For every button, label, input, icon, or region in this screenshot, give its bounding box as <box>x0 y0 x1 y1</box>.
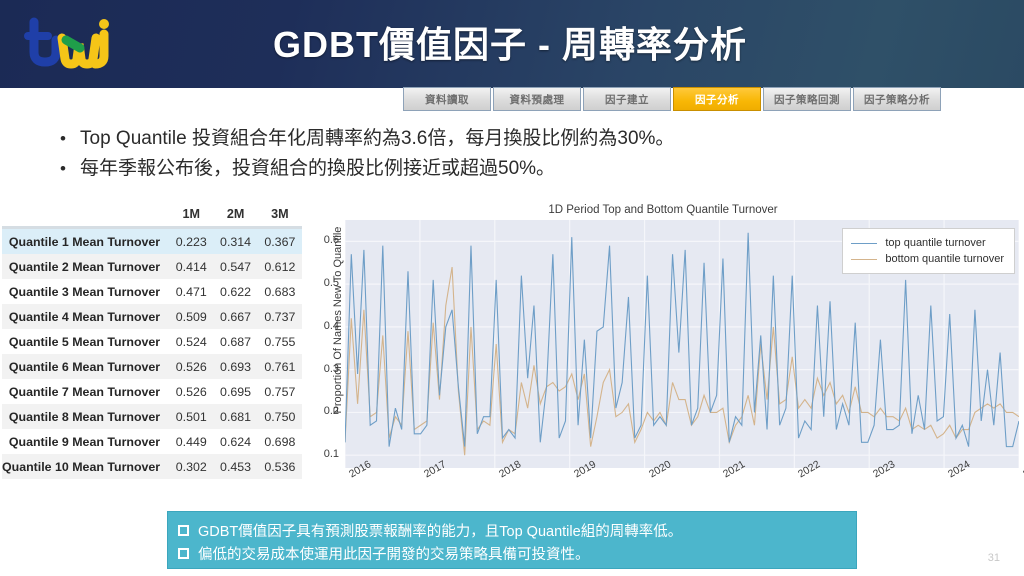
table-header-corner <box>2 205 169 226</box>
bullet-list: • Top Quantile 投資組合年化周轉率約為3.6倍，每月換股比例約為3… <box>60 124 960 184</box>
row-label: Quantile 5 Mean Turnover <box>2 329 169 354</box>
tab-strategy-backtest[interactable]: 因子策略回測 <box>763 87 851 111</box>
cell-3m: 0.612 <box>258 254 302 279</box>
cell-2m: 0.453 <box>213 454 257 479</box>
callout-item: GDBT價值因子具有預測股票報酬率的能力，且Top Quantile組的周轉率低… <box>178 519 856 542</box>
turnover-chart: 1D Period Top and Bottom Quantile Turnov… <box>305 202 1021 507</box>
callout-text: 偏低的交易成本使運用此因子開發的交易策略具備可投資性。 <box>198 543 590 564</box>
bullet-marker-icon: • <box>60 154 80 184</box>
legend-swatch-bottom-icon <box>851 259 877 260</box>
chart-y-tick-label: 0.2 <box>305 405 339 417</box>
square-bullet-icon <box>178 525 189 536</box>
workflow-tabs: 資料讀取 資料預處理 因子建立 因子分析 因子策略回測 因子策略分析 <box>403 87 941 111</box>
chart-title: 1D Period Top and Bottom Quantile Turnov… <box>305 204 1021 216</box>
cell-1m: 0.471 <box>169 279 213 304</box>
legend-label-bottom: bottom quantile turnover <box>885 253 1004 265</box>
callout-item: 偏低的交易成本使運用此因子開發的交易策略具備可投資性。 <box>178 542 856 565</box>
tab-data-preprocess[interactable]: 資料預處理 <box>493 87 581 111</box>
cell-2m: 0.687 <box>213 329 257 354</box>
cell-3m: 0.536 <box>258 454 302 479</box>
chart-y-tick-label: 0.4 <box>305 320 339 332</box>
table-row[interactable]: Quantile 9 Mean Turnover 0.449 0.624 0.6… <box>2 429 302 454</box>
table-row[interactable]: Quantile 8 Mean Turnover 0.501 0.681 0.7… <box>2 404 302 429</box>
slide-header: GDBT價值因子 - 周轉率分析 <box>0 0 1024 88</box>
cell-1m: 0.414 <box>169 254 213 279</box>
table-header-2m: 2M <box>213 205 257 226</box>
cell-3m: 0.750 <box>258 404 302 429</box>
slide: GDBT價值因子 - 周轉率分析 資料讀取 資料預處理 因子建立 因子分析 因子… <box>0 0 1024 576</box>
cell-3m: 0.737 <box>258 304 302 329</box>
cell-2m: 0.693 <box>213 354 257 379</box>
legend-swatch-top-icon <box>851 243 877 244</box>
cell-2m: 0.314 <box>213 229 257 254</box>
cell-3m: 0.755 <box>258 329 302 354</box>
chart-legend: top quantile turnover bottom quantile tu… <box>842 228 1015 274</box>
tab-data-read[interactable]: 資料讀取 <box>403 87 491 111</box>
bullet-marker-icon: • <box>60 124 80 154</box>
table-body: Quantile 1 Mean Turnover 0.223 0.314 0.3… <box>2 229 302 479</box>
table-row[interactable]: Quantile 7 Mean Turnover 0.526 0.695 0.7… <box>2 379 302 404</box>
table-row[interactable]: Quantile 6 Mean Turnover 0.526 0.693 0.7… <box>2 354 302 379</box>
table-row[interactable]: Quantile 1 Mean Turnover 0.223 0.314 0.3… <box>2 229 302 254</box>
cell-2m: 0.624 <box>213 429 257 454</box>
cell-1m: 0.449 <box>169 429 213 454</box>
cell-1m: 0.524 <box>169 329 213 354</box>
row-label: Quantile 7 Mean Turnover <box>2 379 169 404</box>
legend-label-top: top quantile turnover <box>885 237 985 249</box>
conclusion-callout: GDBT價值因子具有預測股票報酬率的能力，且Top Quantile組的周轉率低… <box>167 511 857 569</box>
row-label: Quantile 9 Mean Turnover <box>2 429 169 454</box>
cell-3m: 0.757 <box>258 379 302 404</box>
table-row[interactable]: Quantile 4 Mean Turnover 0.509 0.667 0.7… <box>2 304 302 329</box>
chart-y-tick-label: 0.5 <box>305 277 339 289</box>
tej-logo-icon <box>18 14 122 72</box>
page-title: GDBT價值因子 - 周轉率分析 <box>150 16 870 74</box>
table-header-row: 1M 2M 3M <box>2 205 302 226</box>
chart-y-tick-label: 0.1 <box>305 448 339 460</box>
cell-3m: 0.683 <box>258 279 302 304</box>
tab-strategy-analysis[interactable]: 因子策略分析 <box>853 87 941 111</box>
row-label: Quantile 4 Mean Turnover <box>2 304 169 329</box>
row-label: Quantile 6 Mean Turnover <box>2 354 169 379</box>
cell-3m: 0.761 <box>258 354 302 379</box>
cell-1m: 0.223 <box>169 229 213 254</box>
row-label: Quantile 3 Mean Turnover <box>2 279 169 304</box>
table-row[interactable]: Quantile 5 Mean Turnover 0.524 0.687 0.7… <box>2 329 302 354</box>
bullet-item: • 每年季報公布後，投資組合的換股比例接近或超過50%。 <box>60 154 960 184</box>
table-row[interactable]: Quantile 2 Mean Turnover 0.414 0.547 0.6… <box>2 254 302 279</box>
cell-2m: 0.667 <box>213 304 257 329</box>
chart-x-ticks: 2016201720182019202020212022202320242025 <box>345 470 1019 506</box>
cell-1m: 0.526 <box>169 379 213 404</box>
tab-factor-analysis[interactable]: 因子分析 <box>673 87 761 111</box>
cell-1m: 0.302 <box>169 454 213 479</box>
cell-1m: 0.509 <box>169 304 213 329</box>
bullet-text: Top Quantile 投資組合年化周轉率約為3.6倍，每月換股比例約為30%… <box>80 124 674 154</box>
bullet-text: 每年季報公布後，投資組合的換股比例接近或超過50%。 <box>80 154 555 184</box>
table-header-1m: 1M <box>169 205 213 226</box>
table-row[interactable]: Quantile 10 Mean Turnover 0.302 0.453 0.… <box>2 454 302 479</box>
turnover-table-container: 1M 2M 3M Quantile 1 Mean Turnover 0.223 … <box>2 205 302 479</box>
cell-3m: 0.367 <box>258 229 302 254</box>
row-label: Quantile 10 Mean Turnover <box>2 454 169 479</box>
cell-2m: 0.681 <box>213 404 257 429</box>
cell-2m: 0.622 <box>213 279 257 304</box>
cell-1m: 0.526 <box>169 354 213 379</box>
row-label: Quantile 8 Mean Turnover <box>2 404 169 429</box>
legend-item-bottom: bottom quantile turnover <box>851 251 1004 267</box>
table-header-3m: 3M <box>258 205 302 226</box>
turnover-table: 1M 2M 3M Quantile 1 Mean Turnover 0.223 … <box>2 205 302 479</box>
page-number: 31 <box>988 552 1000 564</box>
tab-factor-build[interactable]: 因子建立 <box>583 87 671 111</box>
cell-2m: 0.695 <box>213 379 257 404</box>
square-bullet-icon <box>178 548 189 559</box>
chart-y-tick-label: 0.3 <box>305 363 339 375</box>
cell-3m: 0.698 <box>258 429 302 454</box>
row-label: Quantile 2 Mean Turnover <box>2 254 169 279</box>
bullet-item: • Top Quantile 投資組合年化周轉率約為3.6倍，每月換股比例約為3… <box>60 124 960 154</box>
table-row[interactable]: Quantile 3 Mean Turnover 0.471 0.622 0.6… <box>2 279 302 304</box>
callout-text: GDBT價值因子具有預測股票報酬率的能力，且Top Quantile組的周轉率低… <box>198 520 682 541</box>
cell-2m: 0.547 <box>213 254 257 279</box>
legend-item-top: top quantile turnover <box>851 235 1004 251</box>
cell-1m: 0.501 <box>169 404 213 429</box>
table-head: 1M 2M 3M <box>2 205 302 229</box>
row-label: Quantile 1 Mean Turnover <box>2 229 169 254</box>
chart-y-tick-label: 0.6 <box>305 234 339 246</box>
